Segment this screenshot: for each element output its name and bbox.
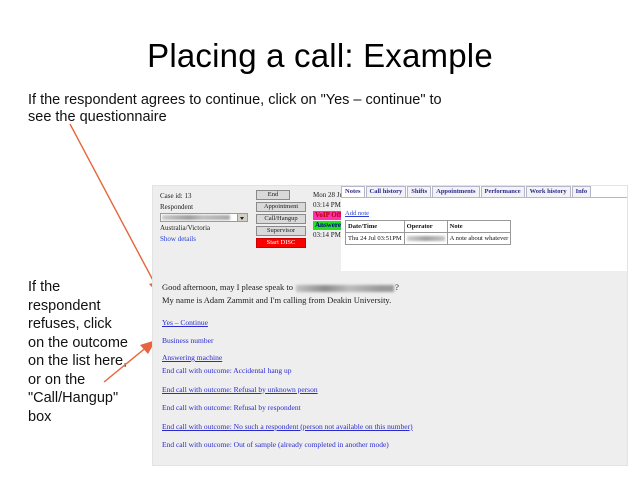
redacted-operator (407, 236, 445, 241)
embedded-app-screenshot: Case id: 13 Respondent Australia/Victori… (152, 185, 628, 466)
respondent-select[interactable] (160, 213, 248, 222)
call-hangup-button[interactable]: Call/Hangup (256, 214, 306, 224)
tab-shifts[interactable]: Shifts (407, 186, 431, 197)
script-line-2: My name is Adam Zammit and I'm calling f… (162, 294, 602, 307)
table-header-row: Date/Time Operator Note (346, 221, 511, 233)
callout-text-top: If the respondent agrees to continue, cl… (28, 92, 458, 126)
call-control-buttons: End Appointment Call/Hangup Supervisor S… (256, 190, 308, 250)
cell-note: A note about whatever (447, 233, 511, 245)
cell-datetime: Thu 24 Jul 03:51PM (346, 233, 405, 245)
tab-strip: Notes Call history Shifts Appointments P… (341, 186, 628, 197)
business-number-link[interactable]: Business number (162, 336, 602, 345)
notes-table: Date/Time Operator Note Thu 24 Jul 03:51… (345, 220, 511, 245)
answering-machine-link[interactable]: Answering machine (162, 353, 602, 362)
page-title: Placing a call: Example (0, 36, 640, 76)
appointment-button[interactable]: Appointment (256, 202, 306, 212)
chevron-down-icon[interactable] (237, 214, 247, 221)
tab-appointments[interactable]: Appointments (432, 186, 479, 197)
outcome-accidental-hang-up[interactable]: End call with outcome: Accidental hang u… (162, 366, 622, 375)
script-line-1-before: Good afternoon, may I please speak to (162, 282, 293, 292)
end-button[interactable]: End (256, 190, 290, 200)
tab-body-notes: Add note Date/Time Operator Note Thu 24 … (341, 197, 628, 271)
col-operator: Operator (404, 221, 447, 233)
start-disc-button[interactable]: Start DISC (256, 238, 306, 248)
supervisor-button[interactable]: Supervisor (256, 226, 306, 236)
outcome-refusal-respondent[interactable]: End call with outcome: Refusal by respon… (162, 403, 622, 412)
table-row[interactable]: Thu 24 Jul 03:51PM A note about whatever (346, 233, 511, 245)
outcome-out-of-sample[interactable]: End call with outcome: Out of sample (al… (162, 440, 622, 449)
tab-notes[interactable]: Notes (341, 186, 365, 197)
call-script-text: Good afternoon, may I please speak to ? … (162, 281, 602, 307)
col-datetime: Date/Time (346, 221, 405, 233)
col-note: Note (447, 221, 511, 233)
redacted-respondent-name (296, 285, 394, 292)
case-id-label: Case id: 13 (160, 191, 256, 202)
call-outcome-links: End call with outcome: Accidental hang u… (162, 366, 622, 459)
outcome-no-such-respondent[interactable]: End call with outcome: No such a respond… (162, 422, 622, 431)
add-note-link[interactable]: Add note (345, 210, 369, 217)
callout-text-left: If the respondent refuses, click on the … (28, 278, 128, 426)
tab-info[interactable]: Info (572, 186, 592, 197)
tab-work-history[interactable]: Work history (526, 186, 571, 197)
tab-call-history[interactable]: Call history (366, 186, 407, 197)
tab-performance[interactable]: Performance (481, 186, 525, 197)
redacted-respondent-value (162, 215, 230, 220)
yes-continue-link[interactable]: Yes – Continue (162, 318, 602, 327)
timezone-label: Australia/Victoria (160, 223, 256, 234)
script-line-1-after: ? (395, 282, 399, 292)
primary-action-links: Yes – Continue Business number Answering… (162, 318, 602, 371)
details-tab-panel: Notes Call history Shifts Appointments P… (341, 186, 628, 271)
app-top-region: Case id: 13 Respondent Australia/Victori… (153, 186, 628, 256)
cell-operator (404, 233, 447, 245)
case-info-panel: Case id: 13 Respondent Australia/Victori… (160, 191, 256, 244)
show-details-link[interactable]: Show details (160, 235, 196, 243)
voip-status-badge: VoIP Off (313, 211, 343, 220)
respondent-label: Respondent (160, 202, 256, 213)
script-line-1: Good afternoon, may I please speak to ? (162, 281, 602, 294)
outcome-refusal-unknown-person[interactable]: End call with outcome: Refusal by unknow… (162, 385, 622, 394)
